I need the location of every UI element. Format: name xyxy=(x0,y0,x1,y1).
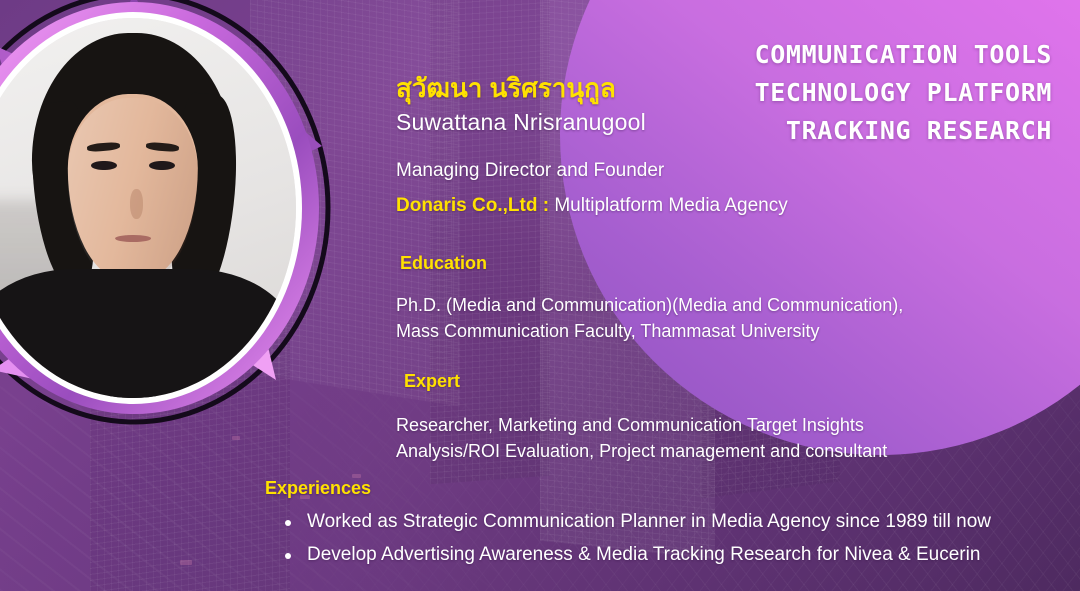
education-line-2: Mass Communication Faculty, Thammasat Un… xyxy=(396,319,903,345)
bullet-dot-icon xyxy=(285,553,291,559)
experience-item: Develop Advertising Awareness & Media Tr… xyxy=(285,545,991,564)
bokeh-speck xyxy=(232,436,240,440)
bokeh-speck xyxy=(180,560,192,565)
education-body: Ph.D. (Media and Communication)(Media an… xyxy=(396,293,903,344)
bokeh-speck xyxy=(934,330,945,334)
speaker-photo xyxy=(0,18,296,398)
headline-block: COMMUNICATION TOOLS TECHNOLOGY PLATFORM … xyxy=(602,36,1052,150)
company-name: Donaris Co.,Ltd : xyxy=(396,195,549,216)
photo-nose xyxy=(130,189,143,219)
expert-line-1: Researcher, Marketing and Communication … xyxy=(396,413,887,439)
bullet-dot-icon xyxy=(285,520,291,526)
photo-eye-left xyxy=(91,161,117,171)
headline-line-2: TECHNOLOGY PLATFORM xyxy=(602,74,1052,112)
education-heading: Education xyxy=(400,253,487,274)
portrait-frame xyxy=(0,0,362,432)
headline-line-1: COMMUNICATION TOOLS xyxy=(602,36,1052,74)
headline-line-3: TRACKING RESEARCH xyxy=(602,112,1052,150)
expert-line-2: Analysis/ROI Evaluation, Project managem… xyxy=(396,439,887,465)
bokeh-speck xyxy=(700,348,709,352)
slide-canvas: COMMUNICATION TOOLS TECHNOLOGY PLATFORM … xyxy=(0,0,1080,591)
company-descriptor: Multiplatform Media Agency xyxy=(549,195,788,216)
speaker-role: Managing Director and Founder xyxy=(396,160,664,182)
expert-body: Researcher, Marketing and Communication … xyxy=(396,413,887,464)
experiences-heading: Experiences xyxy=(265,478,371,499)
experience-item-text: Develop Advertising Awareness & Media Tr… xyxy=(307,544,980,565)
speaker-name-thai: สุวัฒนา นริศรานุกูล xyxy=(396,74,616,103)
experience-item: Worked as Strategic Communication Planne… xyxy=(285,512,991,531)
speaker-name-english: Suwattana Nrisranugool xyxy=(396,109,646,136)
experiences-list: Worked as Strategic Communication Planne… xyxy=(285,512,991,578)
experience-item-text: Worked as Strategic Communication Planne… xyxy=(307,511,991,532)
education-line-1: Ph.D. (Media and Communication)(Media an… xyxy=(396,293,903,319)
speaker-company: Donaris Co.,Ltd : Multiplatform Media Ag… xyxy=(396,195,788,217)
expert-heading: Expert xyxy=(404,371,460,392)
